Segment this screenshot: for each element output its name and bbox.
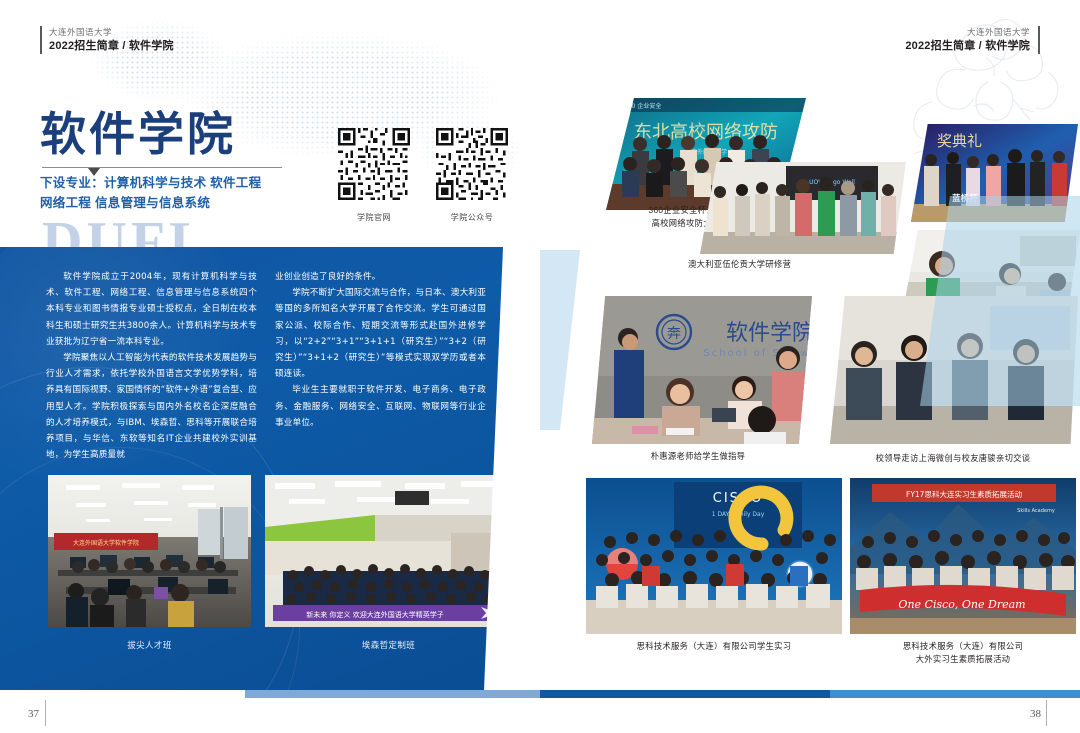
photo-caption-wollongong-camp: 澳大利亚伍伦贡大学研修营 <box>688 258 868 271</box>
left-photo-row: 大连外国语大学软件学院 <box>48 475 512 651</box>
svg-text:360 企业安全: 360 企业安全 <box>624 102 661 110</box>
photo-image: 大连外国语大学软件学院 <box>48 475 251 627</box>
page-number-left: 37 <box>28 700 51 726</box>
photo-image: 奖典礼 <box>911 124 1078 222</box>
right-page: 大连外国语大学 2022招生简章 / 软件学院 360 企业安全 东北高校网 <box>540 0 1080 690</box>
body-column-1: 软件学院成立于2004年，现有计算机科学与技术、软件工程、网络工程、信息管理与信… <box>46 269 257 463</box>
header-left: 大连外国语大学 2022招生简章 / 软件学院 <box>40 26 174 54</box>
qr-code-icon <box>436 128 508 200</box>
svg-text:新未来 你定义 欢迎大连外国语大学精英学子: 新未来 你定义 欢迎大连外国语大学精英学子 <box>306 610 443 619</box>
majors-subtitle: 下设专业：计算机科学与技术 软件工程 网络工程 信息管理与信息系统 <box>40 173 300 213</box>
photo-accenture-class[interactable]: 新未来 你定义 欢迎大连外国语大学精英学子 埃森哲定制班 <box>265 475 512 651</box>
page-number-left-value: 37 <box>28 708 39 720</box>
bar-segment-2 <box>245 690 540 698</box>
photo-image <box>830 296 1078 444</box>
blue-content-panel: 软件学院成立于2004年，现有计算机科学与技术、软件工程、网络工程、信息管理与信… <box>0 247 540 690</box>
svg-text:大连外国语大学软件学院: 大连外国语大学软件学院 <box>73 539 139 547</box>
page-number-rule <box>1046 700 1047 726</box>
header-rule <box>40 26 42 54</box>
page-title: 软件学院 <box>40 108 236 160</box>
qr-label-wechat: 学院公众号 <box>436 212 508 223</box>
photo-caption-cisco-internship: 思科技术服务（大连）有限公司学生实习 <box>586 640 842 653</box>
footer-color-bar <box>0 690 1080 698</box>
bar-segment-1 <box>0 690 245 698</box>
body-column-2: 业创业创造了良好的条件。 学院不断扩大国际交流与合作，与日本、澳大利亚等国的多所… <box>275 269 486 463</box>
photo-caption-cisco-teambuilding: 思科技术服务（大连）有限公司 大外实习生素质拓展活动 <box>850 640 1076 665</box>
photo-collage: 360 企业安全 东北高校网络攻防 大连外国语大学 <box>540 0 1080 690</box>
photo-image: CISCO 1 DAY Family Day <box>586 478 842 634</box>
majors-line-1: 下设专业：计算机科学与技术 软件工程 <box>40 173 300 193</box>
bar-segment-3 <box>540 690 830 698</box>
svg-text:FY17思科大连实习生素质拓展活动: FY17思科大连实习生素质拓展活动 <box>906 489 1022 499</box>
photo-caption-alumni: 校领导走访上海微创与校友唐骏亲切交谈 <box>838 452 1068 465</box>
qr-code-group: 学院官网 <box>338 128 508 223</box>
brochure-spread: 大连外国语大学 2022招生简章 / 软件学院 软件学院 下设专业：计算机科学与… <box>0 0 1080 733</box>
caption-line-1: 思科技术服务（大连）有限公司 <box>850 640 1076 653</box>
paragraph: 业创业创造了良好的条件。 <box>275 269 486 285</box>
qr-code-icon <box>338 128 410 200</box>
qr-official-site[interactable]: 学院官网 <box>338 128 410 223</box>
photo-image: 新未来 你定义 欢迎大连外国语大学精英学子 <box>265 475 512 627</box>
photo-cisco-teambuilding[interactable]: FY17思科大连实习生素质拓展活动 Skills Academy <box>850 478 1076 634</box>
sign-cn: 软件学院 <box>726 321 812 346</box>
paragraph: 学院聚焦以人工智能为代表的软件技术发展趋势与行业人才需求，依托学校外国语言文学优… <box>46 350 257 463</box>
panel-edge-white <box>484 247 540 690</box>
photo-caption-lanqiao: 蓝桥杯 <box>920 192 1010 205</box>
svg-text:奖典礼: 奖典礼 <box>937 132 982 150</box>
photo-image: 奔 软件学院 School of Software <box>592 296 812 444</box>
photo-image: UOW Logo Wall <box>700 162 906 254</box>
left-page: 大连外国语大学 2022招生简章 / 软件学院 软件学院 下设专业：计算机科学与… <box>0 0 540 690</box>
photo-caption: 埃森哲定制班 <box>265 639 512 651</box>
paragraph: 毕业生主要就职于软件开发、电子商务、电子政务、金融服务、网络安全、互联网、物联网… <box>275 382 486 431</box>
qr-label-official: 学院官网 <box>338 212 410 223</box>
svg-text:One Cisco, One Dream: One Cisco, One Dream <box>898 598 1025 611</box>
page-number-right-value: 38 <box>1030 708 1041 720</box>
photo-cisco-internship[interactable]: CISCO 1 DAY Family Day <box>586 478 842 634</box>
photo-teacher-guidance[interactable]: 奔 软件学院 School of Software <box>592 296 812 444</box>
photo-image: FY17思科大连实习生素质拓展活动 Skills Academy <box>850 478 1076 634</box>
photo-caption-teacher: 朴惠源老师给学生做指导 <box>598 450 798 463</box>
photo-caption: 拔尖人才班 <box>48 639 251 651</box>
paragraph: 学院不断扩大国际交流与合作，与日本、澳大利亚等国的多所知名大学开展了合作交流。学… <box>275 285 486 382</box>
photo-top-talent-class[interactable]: 大连外国语大学软件学院 <box>48 475 251 651</box>
header-university: 大连外国语大学 <box>49 26 174 39</box>
header-subtitle: 2022招生简章 / 软件学院 <box>49 39 174 54</box>
svg-text:Skills Academy: Skills Academy <box>1017 508 1055 514</box>
svg-text:奔: 奔 <box>667 326 681 342</box>
caption-line-2: 大外实习生素质拓展活动 <box>850 653 1076 666</box>
photo-wollongong-camp[interactable]: UOW Logo Wall <box>700 162 906 254</box>
paragraph: 软件学院成立于2004年，现有计算机科学与技术、软件工程、网络工程、信息管理与信… <box>46 269 257 350</box>
photo-lanqiao-cup[interactable]: 奖典礼 <box>911 124 1078 222</box>
title-divider <box>42 167 282 168</box>
qr-wechat-account[interactable]: 学院公众号 <box>436 128 508 223</box>
page-number-rule <box>45 700 46 726</box>
bar-segment-4 <box>830 690 1080 698</box>
page-number-right: 38 <box>1030 700 1052 726</box>
photo-alumni-visit[interactable] <box>830 296 1078 444</box>
body-text: 软件学院成立于2004年，现有计算机科学与技术、软件工程、网络工程、信息管理与信… <box>46 269 486 463</box>
